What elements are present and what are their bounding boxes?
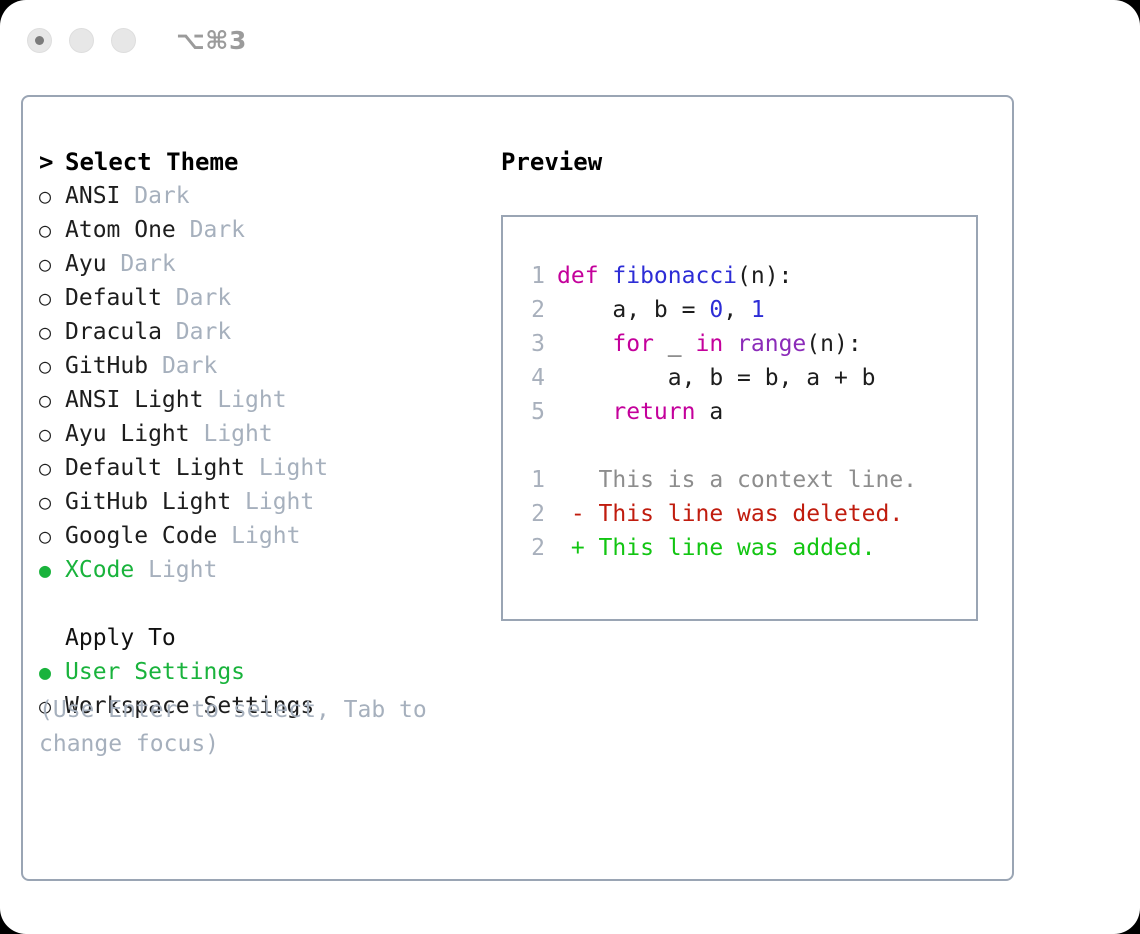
theme-list-item[interactable]: ○Ayu Dark <box>39 247 469 281</box>
title-bar: ⌥⌘3 <box>0 0 1140 80</box>
code-token: return <box>612 399 695 425</box>
theme-name-label: Default <box>65 281 162 315</box>
theme-name-label: ANSI <box>65 179 120 213</box>
code-token: a, b = b, a + b <box>557 365 876 391</box>
code-line-content: def fibonacci(n): <box>557 259 792 293</box>
apply-to-heading-label: Apply To <box>65 621 176 655</box>
apply-to-heading: ○ Apply To <box>39 621 469 655</box>
radio-selected-icon: ● <box>39 655 65 689</box>
code-token: _ <box>654 331 696 357</box>
theme-name-label: Ayu Light <box>65 417 190 451</box>
theme-list-item[interactable]: ○Default Dark <box>39 281 469 315</box>
theme-variant-label: Dark <box>162 281 231 315</box>
code-line-number: 4 <box>517 361 545 395</box>
theme-name-label: Default Light <box>65 451 245 485</box>
code-diff-separator <box>517 429 976 463</box>
theme-variant-label: Dark <box>107 247 176 281</box>
code-token: (n): <box>737 263 792 289</box>
code-line: 4 a, b = b, a + b <box>517 361 976 395</box>
radio-unselected-icon: ○ <box>39 349 65 383</box>
theme-variant-label: Light <box>203 383 286 417</box>
radio-unselected-icon: ○ <box>39 247 65 281</box>
code-token: range <box>737 331 806 357</box>
diff-line-number: 1 <box>517 463 545 497</box>
theme-variant-label: Light <box>134 553 217 587</box>
code-token: , <box>723 297 751 323</box>
theme-variant-label: Light <box>245 451 328 485</box>
code-token: fibonacci <box>612 263 737 289</box>
code-token: 1 <box>751 297 765 323</box>
preview-box: 1def fibonacci(n):2 a, b = 0, 13 for _ i… <box>501 215 978 621</box>
code-token: (n): <box>806 331 861 357</box>
code-line: 3 for _ in range(n): <box>517 327 976 361</box>
select-theme-heading-label: Select Theme <box>65 145 238 179</box>
diff-text: This line was added. <box>599 531 876 565</box>
theme-name-label: ANSI Light <box>65 383 203 417</box>
radio-unselected-icon: ○ <box>39 383 65 417</box>
code-token: for <box>612 331 654 357</box>
theme-list-item[interactable]: ○ANSI Light Light <box>39 383 469 417</box>
keyboard-hint-text: (Use Enter to select, Tab to change focu… <box>39 693 459 761</box>
code-line-content: for _ in range(n): <box>557 327 862 361</box>
theme-list-item[interactable]: ○GitHub Dark <box>39 349 469 383</box>
diff-line: 2 - This line was deleted. <box>517 497 976 531</box>
radio-selected-icon: ● <box>39 553 65 587</box>
code-token: def <box>557 263 612 289</box>
prompt-caret-icon: > <box>39 145 65 179</box>
theme-variant-label: Dark <box>162 315 231 349</box>
radio-unselected-icon: ○ <box>39 485 65 519</box>
code-line-number: 3 <box>517 327 545 361</box>
theme-list-item[interactable]: ○GitHub Light Light <box>39 485 469 519</box>
radio-unselected-icon: ○ <box>39 281 65 315</box>
window-control-button-2[interactable] <box>69 28 94 53</box>
apply-to-bullet-placeholder: ○ <box>39 621 65 655</box>
record-indicator-button[interactable] <box>27 28 52 53</box>
code-token <box>557 331 612 357</box>
theme-name-label: Ayu <box>65 247 107 281</box>
code-sample: 1def fibonacci(n):2 a, b = 0, 13 for _ i… <box>517 259 976 429</box>
theme-variant-label: Light <box>231 485 314 519</box>
theme-name-label: Google Code <box>65 519 217 553</box>
radio-unselected-icon: ○ <box>39 213 65 247</box>
theme-variant-label: Dark <box>176 213 245 247</box>
theme-list-item[interactable]: ○Atom One Dark <box>39 213 469 247</box>
window-control-button-3[interactable] <box>111 28 136 53</box>
code-token: a <box>695 399 723 425</box>
app-window: ⌥⌘3 > Select Theme ○ANSI Dark○Atom One D… <box>0 0 1140 934</box>
diff-marker: - <box>557 497 599 531</box>
select-theme-heading: > Select Theme <box>39 145 469 179</box>
diff-line-number: 2 <box>517 497 545 531</box>
theme-variant-label: Light <box>190 417 273 451</box>
code-line: 5 return a <box>517 395 976 429</box>
code-token: in <box>695 331 723 357</box>
code-line-number: 2 <box>517 293 545 327</box>
preview-panel: Preview 1def fibonacci(n):2 a, b = 0, 13… <box>501 145 991 621</box>
theme-list-item[interactable]: ○Default Light Light <box>39 451 469 485</box>
code-line: 2 a, b = 0, 1 <box>517 293 976 327</box>
apply-to-option-label: User Settings <box>65 655 245 689</box>
theme-list-item[interactable]: ○Google Code Light <box>39 519 469 553</box>
radio-unselected-icon: ○ <box>39 179 65 213</box>
theme-selection-panel: > Select Theme ○ANSI Dark○Atom One Dark○… <box>39 145 469 723</box>
code-line-number: 1 <box>517 259 545 293</box>
radio-unselected-icon: ○ <box>39 451 65 485</box>
theme-name-label: GitHub <box>65 349 148 383</box>
keyboard-shortcut-label: ⌥⌘3 <box>176 28 247 53</box>
code-line-content: a, b = 0, 1 <box>557 293 765 327</box>
theme-list-item[interactable]: ●XCode Light <box>39 553 469 587</box>
code-token <box>557 399 612 425</box>
code-line-content: return a <box>557 395 723 429</box>
theme-variant-label: Dark <box>120 179 189 213</box>
theme-name-label: XCode <box>65 553 134 587</box>
code-token <box>723 331 737 357</box>
code-line-number: 5 <box>517 395 545 429</box>
theme-list-item[interactable]: ○Ayu Light Light <box>39 417 469 451</box>
theme-list: ○ANSI Dark○Atom One Dark○Ayu Dark○Defaul… <box>39 179 469 587</box>
diff-text: This is a context line. <box>599 463 918 497</box>
diff-marker: + <box>557 531 599 565</box>
theme-name-label: Dracula <box>65 315 162 349</box>
theme-list-item[interactable]: ○ANSI Dark <box>39 179 469 213</box>
diff-sample: 1 This is a context line.2 - This line w… <box>517 463 976 565</box>
theme-variant-label: Dark <box>148 349 217 383</box>
code-line: 1def fibonacci(n): <box>517 259 976 293</box>
code-token: 0 <box>709 297 723 323</box>
window-controls <box>27 28 136 53</box>
diff-line-number: 2 <box>517 531 545 565</box>
diff-line: 2 + This line was added. <box>517 531 976 565</box>
theme-variant-label: Light <box>217 519 300 553</box>
radio-unselected-icon: ○ <box>39 417 65 451</box>
code-line-content: a, b = b, a + b <box>557 361 876 395</box>
diff-marker <box>557 463 599 497</box>
theme-name-label: Atom One <box>65 213 176 247</box>
preview-title: Preview <box>501 145 991 179</box>
diff-text: This line was deleted. <box>599 497 904 531</box>
diff-line: 1 This is a context line. <box>517 463 976 497</box>
apply-to-option[interactable]: ●User Settings <box>39 655 469 689</box>
radio-unselected-icon: ○ <box>39 519 65 553</box>
theme-name-label: GitHub Light <box>65 485 231 519</box>
radio-unselected-icon: ○ <box>39 315 65 349</box>
code-token: a, b = <box>557 297 709 323</box>
record-dot-icon <box>35 36 44 45</box>
theme-picker-card: > Select Theme ○ANSI Dark○Atom One Dark○… <box>21 95 1014 881</box>
theme-list-item[interactable]: ○Dracula Dark <box>39 315 469 349</box>
